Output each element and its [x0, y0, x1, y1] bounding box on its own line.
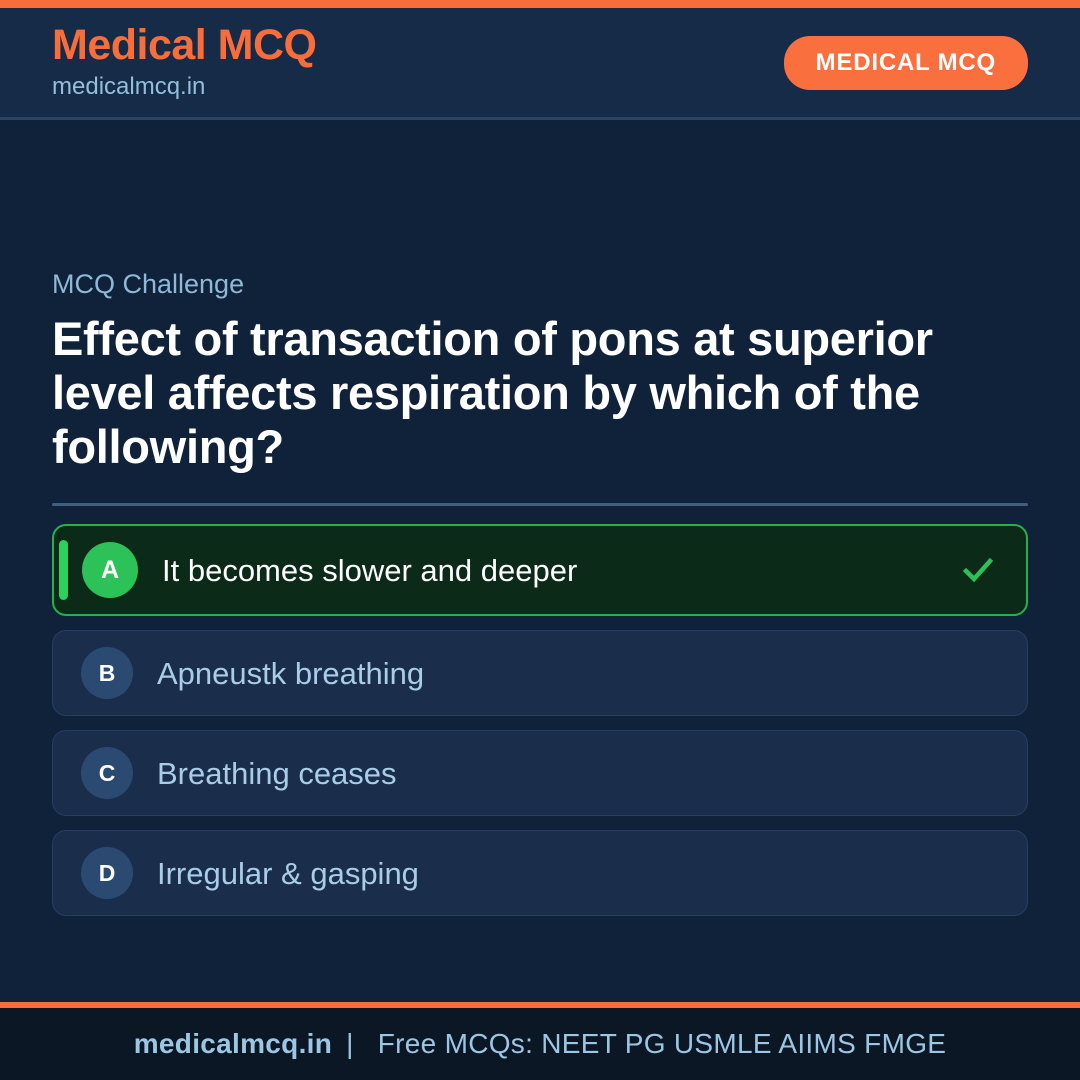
- option-b-text: Apneustk breathing: [157, 655, 957, 692]
- check-icon: [956, 548, 1000, 592]
- option-c-letter: C: [81, 747, 133, 799]
- option-b-letter: B: [81, 647, 133, 699]
- question-block: MCQ Challenge Effect of transaction of p…: [52, 268, 1028, 473]
- option-c-text: Breathing ceases: [157, 755, 957, 792]
- brand-badge: MEDICAL MCQ: [784, 36, 1028, 90]
- option-c[interactable]: C Breathing ceases: [52, 730, 1028, 816]
- option-b[interactable]: B Apneustk breathing: [52, 630, 1028, 716]
- header: Medical MCQ medicalmcq.in MEDICAL MCQ: [0, 8, 1080, 120]
- option-d-text: Irregular & gasping: [157, 855, 957, 892]
- mcq-card: Medical MCQ medicalmcq.in MEDICAL MCQ MC…: [0, 0, 1080, 1080]
- main-content: MCQ Challenge Effect of transaction of p…: [0, 120, 1080, 1002]
- option-a-text: It becomes slower and deeper: [162, 552, 956, 589]
- brand-title: Medical MCQ: [52, 23, 317, 67]
- eyebrow-label: MCQ Challenge: [52, 268, 1028, 300]
- option-d-letter: D: [81, 847, 133, 899]
- footer: medicalmcq.in | Free MCQs: NEET PG USMLE…: [0, 1008, 1080, 1080]
- brand-subtitle: medicalmcq.in: [52, 72, 317, 102]
- top-accent-bar: [0, 0, 1080, 8]
- footer-separator: |: [332, 1028, 368, 1060]
- option-a[interactable]: A It becomes slower and deeper: [52, 524, 1028, 616]
- question-text: Effect of transaction of pons at superio…: [52, 312, 1028, 473]
- options-list: A It becomes slower and deeper B Apneust…: [52, 524, 1028, 916]
- option-a-letter: A: [82, 542, 138, 598]
- question-divider: [52, 503, 1028, 506]
- footer-tagline: Free MCQs: NEET PG USMLE AIIMS FMGE: [368, 1028, 947, 1060]
- footer-site: medicalmcq.in: [134, 1028, 332, 1060]
- brand-block: Medical MCQ medicalmcq.in: [52, 23, 317, 101]
- option-d[interactable]: D Irregular & gasping: [52, 830, 1028, 916]
